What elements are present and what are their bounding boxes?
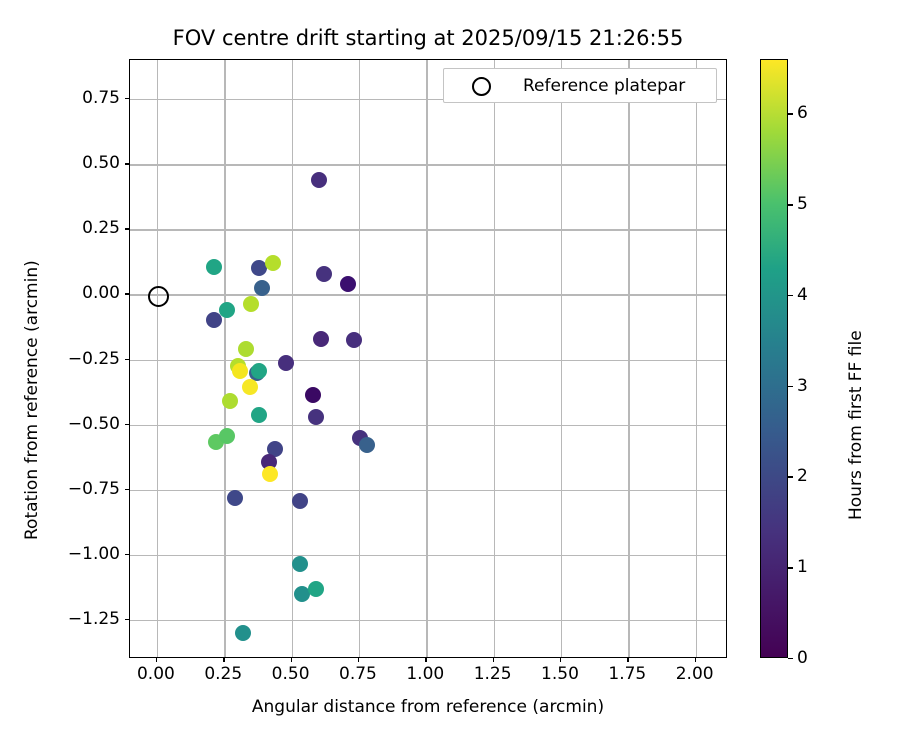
scatter-point (265, 255, 281, 271)
x-tick-label: 1.75 (608, 664, 646, 684)
y-tick (125, 98, 129, 99)
y-tick-label: −1.25 (40, 609, 120, 629)
gridline-horizontal (130, 294, 726, 295)
gridline-vertical (696, 60, 697, 657)
y-tick-label: −0.75 (40, 479, 120, 499)
scatter-point (308, 581, 324, 597)
colorbar-tick-label: 0 (797, 648, 808, 668)
colorbar-tick-label: 6 (797, 103, 808, 123)
y-tick (125, 163, 129, 164)
x-tick-label: 1.25 (474, 664, 512, 684)
scatter-point (313, 331, 329, 347)
scatter-point (206, 259, 222, 275)
y-tick-label: 0.50 (40, 153, 120, 173)
legend[interactable]: Reference platepar (443, 68, 717, 103)
colorbar-tick (788, 386, 793, 387)
reference-platepar-marker-icon (472, 77, 491, 96)
gridline-vertical (224, 60, 225, 657)
y-tick (125, 619, 129, 620)
x-tick-label: 0.25 (204, 664, 242, 684)
scatter-point (292, 556, 308, 572)
x-tick (291, 658, 292, 662)
x-tick (627, 658, 628, 662)
colorbar-label: Hours from first FF file (846, 330, 866, 520)
figure-canvas: FOV centre drift starting at 2025/09/15 … (0, 0, 900, 750)
scatter-point (254, 280, 270, 296)
y-axis-label: Rotation from reference (arcmin) (22, 260, 42, 540)
scatter-point (232, 363, 248, 379)
scatter-point (206, 312, 222, 328)
x-tick-label: 0.50 (272, 664, 310, 684)
scatter-point (227, 490, 243, 506)
x-tick (156, 658, 157, 662)
scatter-point (242, 379, 258, 395)
colorbar-tick (788, 567, 793, 568)
x-tick (493, 658, 494, 662)
x-tick (425, 658, 426, 662)
gridline-horizontal (130, 425, 726, 426)
x-tick (223, 658, 224, 662)
gridline-vertical (628, 60, 629, 657)
gridline-vertical (561, 60, 562, 657)
scatter-point (235, 625, 251, 641)
x-tick-label: 0.00 (137, 664, 175, 684)
y-tick (125, 228, 129, 229)
y-tick (125, 424, 129, 425)
scatter-point (243, 296, 259, 312)
colorbar-tick (788, 476, 793, 477)
scatter-point (311, 172, 327, 188)
gridline-vertical (494, 60, 495, 657)
x-tick (560, 658, 561, 662)
x-tick (358, 658, 359, 662)
colorbar (760, 59, 788, 658)
scatter-point (219, 302, 235, 318)
scatter-point (346, 332, 362, 348)
y-tick-label: −0.25 (40, 349, 120, 369)
scatter-point (316, 266, 332, 282)
scatter-point (251, 407, 267, 423)
colorbar-tick-label: 2 (797, 466, 808, 486)
y-tick-label: −0.50 (40, 414, 120, 434)
y-tick-label: 0.25 (40, 218, 120, 238)
y-tick (125, 359, 129, 360)
x-tick (695, 658, 696, 662)
gridline-horizontal (130, 360, 726, 361)
gridline-horizontal (130, 555, 726, 556)
scatter-point (262, 466, 278, 482)
scatter-point (305, 387, 321, 403)
y-tick-label: −1.00 (40, 544, 120, 564)
x-tick-label: 0.75 (339, 664, 377, 684)
x-tick-label: 1.00 (406, 664, 444, 684)
scatter-point (222, 393, 238, 409)
scatter-point (292, 493, 308, 509)
x-axis-label: Angular distance from reference (arcmin) (129, 697, 727, 717)
y-tick-label: 0.00 (40, 283, 120, 303)
scatter-point (219, 428, 235, 444)
colorbar-tick (788, 113, 793, 114)
gridline-horizontal (130, 164, 726, 165)
scatter-point (359, 437, 375, 453)
gridline-vertical (359, 60, 360, 657)
colorbar-tick (788, 658, 793, 659)
y-tick (125, 293, 129, 294)
scatter-point (340, 276, 356, 292)
gridline-horizontal (130, 229, 726, 230)
colorbar-tick-label: 5 (797, 194, 808, 214)
colorbar-tick-label: 3 (797, 376, 808, 396)
reference-platepar-point (148, 286, 169, 307)
colorbar-tick-label: 4 (797, 285, 808, 305)
colorbar-tick-label: 1 (797, 557, 808, 577)
y-tick-label: 0.75 (40, 88, 120, 108)
gridline-horizontal (130, 620, 726, 621)
gridline-vertical (157, 60, 158, 657)
y-tick (125, 554, 129, 555)
scatter-point (251, 363, 267, 379)
legend-label: Reference platepar (523, 76, 685, 96)
scatter-point (238, 341, 254, 357)
gridline-vertical (426, 60, 427, 657)
chart-title: FOV centre drift starting at 2025/09/15 … (0, 26, 856, 50)
y-tick (125, 489, 129, 490)
gridline-horizontal (130, 490, 726, 491)
colorbar-tick (788, 295, 793, 296)
colorbar-tick (788, 204, 793, 205)
plot-area (129, 59, 727, 658)
x-tick-label: 2.00 (676, 664, 714, 684)
x-tick-label: 1.50 (541, 664, 579, 684)
scatter-point (308, 409, 324, 425)
